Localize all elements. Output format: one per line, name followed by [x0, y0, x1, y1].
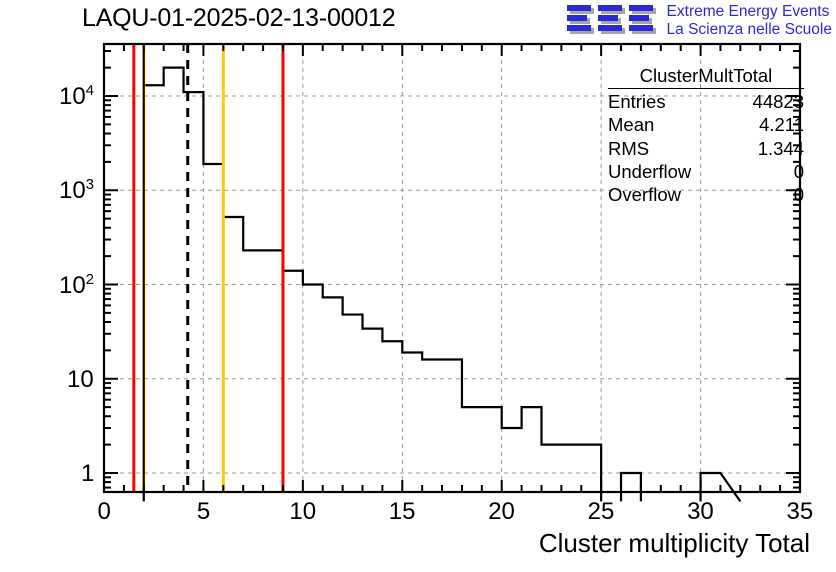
y-tick-label: 104	[59, 83, 94, 111]
x-tick-label: 35	[787, 498, 814, 526]
x-tick-label: 20	[488, 498, 515, 526]
stats-row-value: 44823	[753, 90, 804, 113]
stats-row-key: Overflow	[608, 183, 681, 206]
stats-row-value: 1.344	[758, 137, 804, 160]
x-tick-label: 10	[289, 498, 316, 526]
x-tick-label: 0	[98, 498, 111, 526]
stats-box: ClusterMultTotal Entries44823Mean4.211RM…	[608, 64, 804, 206]
y-tick-label: 103	[59, 177, 94, 205]
stats-row: RMS1.344	[608, 137, 804, 160]
stats-row-value: 4.211	[759, 113, 804, 136]
x-axis-title: Cluster multiplicity Total	[539, 528, 810, 559]
x-tick-label: 15	[389, 498, 416, 526]
x-tick-label: 5	[197, 498, 210, 526]
histogram-page: LAQU-01-2025-02-13-00012	[0, 0, 836, 572]
stats-row-value: 0	[794, 160, 804, 183]
stats-row: Overflow0	[608, 183, 804, 206]
stats-row: Mean4.211	[608, 113, 804, 136]
stats-row-value: 0	[794, 183, 804, 206]
y-tick-label: 10	[67, 366, 94, 394]
x-tick-label: 25	[588, 498, 615, 526]
stats-rows: Entries44823Mean4.211RMS1.344Underflow0O…	[608, 90, 804, 206]
stats-row-key: Mean	[608, 113, 654, 136]
stats-row-key: RMS	[608, 137, 649, 160]
stats-row: Underflow0	[608, 160, 804, 183]
threshold-markers	[134, 44, 283, 492]
y-tick-label: 102	[59, 272, 94, 300]
stats-row-key: Underflow	[608, 160, 691, 183]
stats-title: ClusterMultTotal	[608, 64, 804, 89]
y-tick-label: 1	[81, 460, 94, 488]
stats-row: Entries44823	[608, 90, 804, 113]
x-tick-label: 30	[687, 498, 714, 526]
stats-row-key: Entries	[608, 90, 666, 113]
